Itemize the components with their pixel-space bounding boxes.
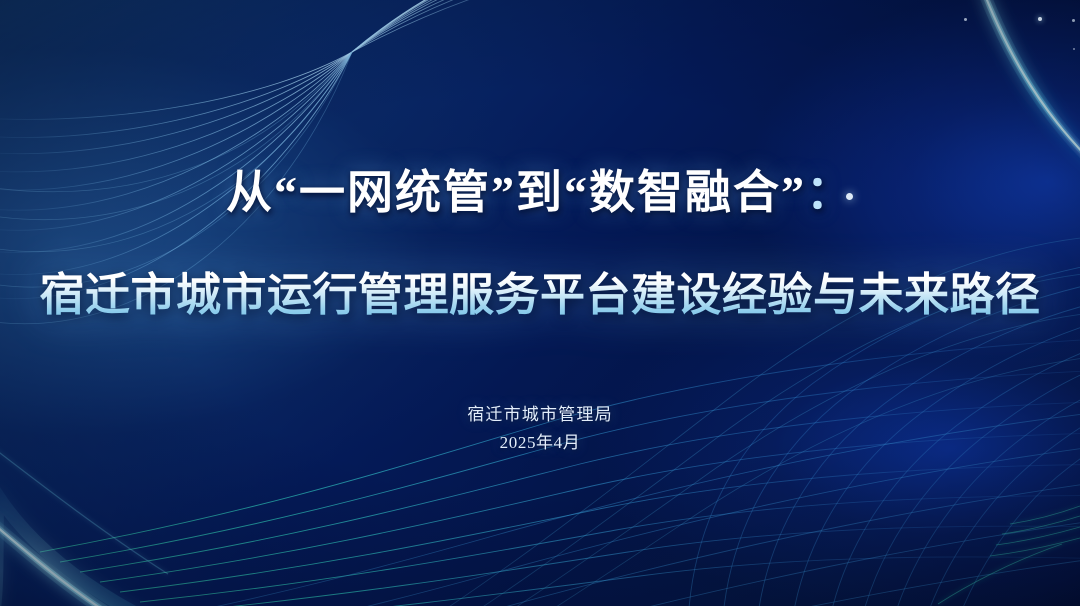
title-block: 从“一网统管”到“数智融合”： 宿迁市城市运行管理服务平台建设经验与未来路径 宿… <box>0 0 1080 606</box>
title-line-2: 宿迁市城市运行管理服务平台建设经验与未来路径 <box>0 264 1080 326</box>
title-line-1-colon: ： <box>806 167 854 218</box>
subtitle-block: 宿迁市城市管理局 2025年4月 <box>0 402 1080 455</box>
organization-name: 宿迁市城市管理局 <box>467 405 613 424</box>
title-line-1: 从“一网统管”到“数智融合”： <box>0 163 1080 223</box>
title-line-1-text: 从“一网统管”到“数智融合” <box>226 167 806 218</box>
presentation-date: 2025年4月 <box>0 430 1080 455</box>
presentation-title-slide: 从“一网统管”到“数智融合”： 宿迁市城市运行管理服务平台建设经验与未来路径 宿… <box>0 0 1080 606</box>
